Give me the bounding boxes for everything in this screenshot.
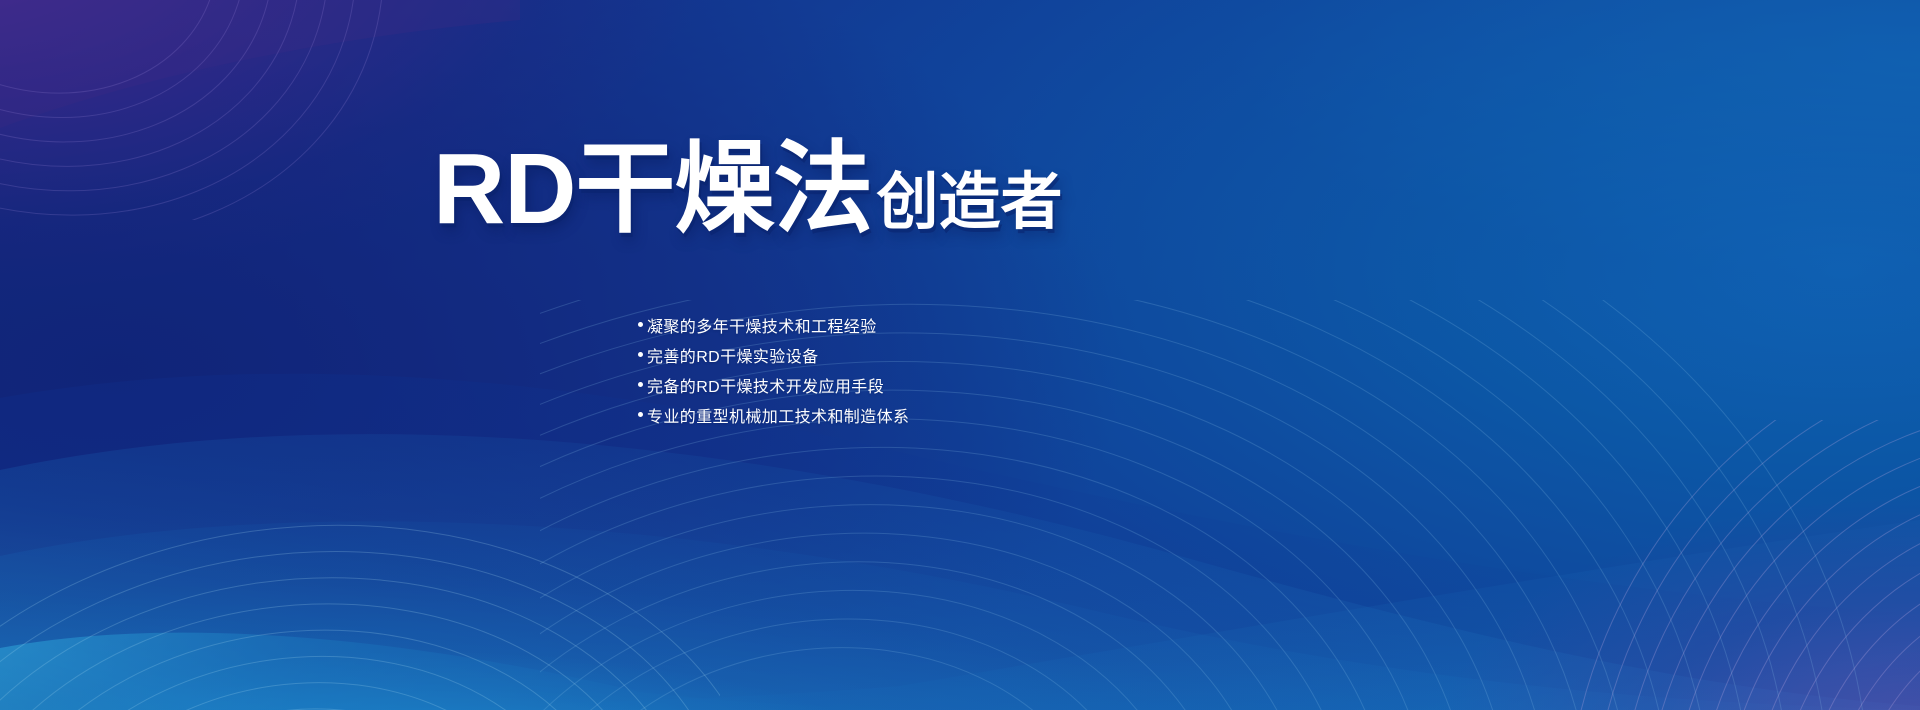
list-item: 完善的RD干燥实验设备: [638, 340, 909, 369]
list-item-label: 专业的重型机械加工技术和制造体系: [647, 403, 909, 427]
promotional-banner: RD干燥法创造者 凝聚的多年干燥技术和工程经验 完善的RD干燥实验设备 完备的R…: [0, 0, 1920, 710]
list-item: 完备的RD干燥技术开发应用手段: [638, 370, 909, 399]
bullet-dot-icon: [638, 382, 643, 387]
headline-secondary-text: 创造者: [876, 168, 1062, 237]
list-item: 专业的重型机械加工技术和制造体系: [638, 400, 909, 429]
list-item-label: 完善的RD干燥实验设备: [647, 343, 819, 367]
headline-primary-text: RD干燥法: [433, 133, 872, 245]
list-item-label: 完备的RD干燥技术开发应用手段: [647, 373, 884, 397]
feature-bullet-list: 凝聚的多年干燥技术和工程经验 完善的RD干燥实验设备 完备的RD干燥技术开发应用…: [638, 310, 909, 430]
list-item: 凝聚的多年干燥技术和工程经验: [638, 310, 909, 339]
bullet-dot-icon: [638, 412, 643, 417]
banner-content: RD干燥法创造者 凝聚的多年干燥技术和工程经验 完善的RD干燥实验设备 完备的R…: [0, 0, 1920, 710]
headline: RD干燥法创造者: [433, 139, 1062, 239]
bullet-dot-icon: [638, 322, 643, 327]
list-item-label: 凝聚的多年干燥技术和工程经验: [647, 313, 877, 337]
bullet-dot-icon: [638, 352, 643, 357]
